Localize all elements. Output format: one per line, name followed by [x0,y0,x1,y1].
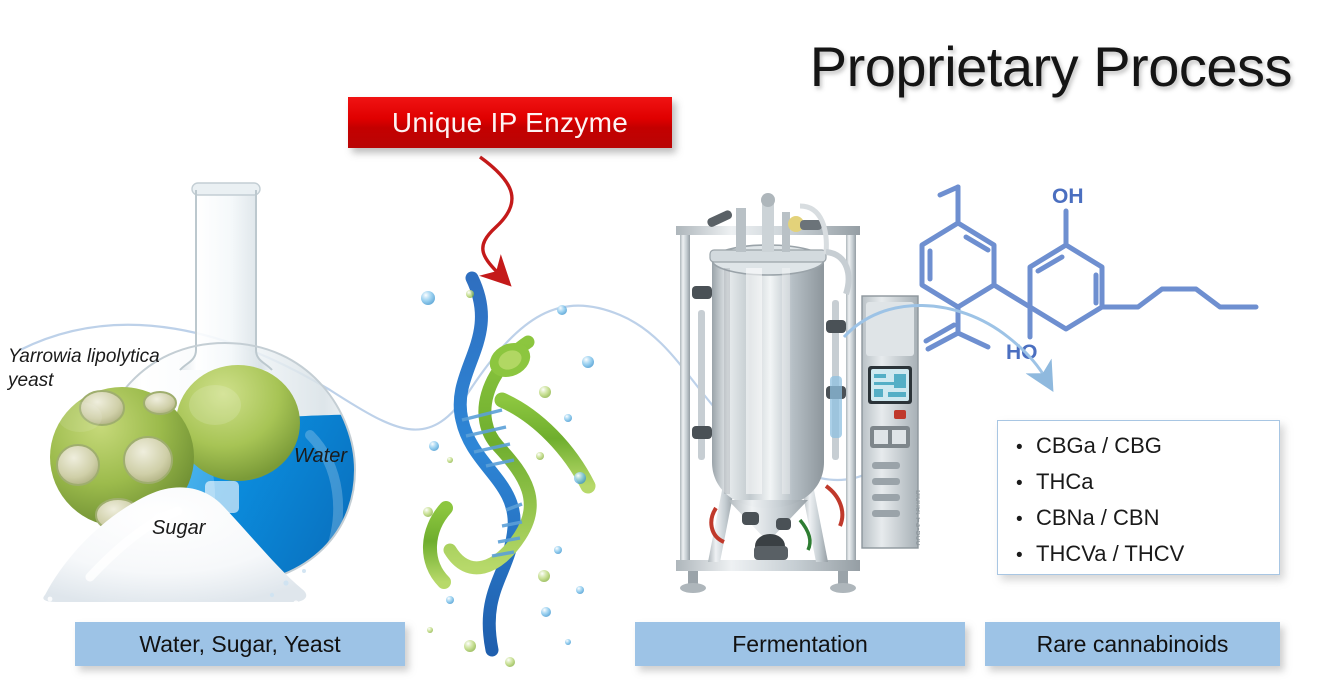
sugar-label: Sugar [152,516,205,540]
caption-water-sugar-yeast: Water, Sugar, Yeast [75,622,405,666]
caption-fermentation: Fermentation [635,622,965,666]
flask-yeast-sugar-artwork: 500 [10,165,440,625]
svg-text:500: 500 [138,441,181,471]
cannabidiol-molecule: OH HO [900,175,1300,365]
sugar-pile [34,487,324,605]
yeast-cell-budding [50,387,194,531]
list-item: THCa [1016,465,1279,501]
dna-helix-artwork [410,250,650,670]
page-title: Proprietary Process [810,34,1292,99]
list-item: CBGa / CBG [1016,429,1279,465]
enzyme-arrow [390,145,550,300]
enzyme-banner-label: Unique IP Enzyme [392,107,628,139]
bubbles [421,290,594,667]
yeast-label-line2: yeast [8,369,218,393]
cannabinoid-list: CBGa / CBG THCa CBNa / CBN THCVa / THCV [1016,429,1279,573]
yeast-label-line1: Yarrowia lipolytica [8,345,218,369]
slide-canvas: 500 [0,0,1336,685]
water-label: Water [294,444,347,468]
yeast-label: Yarrowia lipolytica yeast [8,345,218,393]
molecule-label-ho: HO [1006,341,1038,364]
product-arrow [840,275,1090,410]
list-item: THCVa / THCV [1016,537,1279,573]
molecule-label-oh: OH [1052,185,1084,208]
fermenter-artwork: bionet F3-500 [650,190,920,610]
unique-ip-enzyme-banner[interactable]: Unique IP Enzyme [348,97,672,148]
list-item: CBNa / CBN [1016,501,1279,537]
caption-rare-cannabinoids: Rare cannabinoids [985,622,1280,666]
rare-cannabinoid-list-box: CBGa / CBG THCa CBNa / CBN THCVa / THCV [997,420,1280,575]
svg-text:bionet F3-500: bionet F3-500 [914,490,920,546]
